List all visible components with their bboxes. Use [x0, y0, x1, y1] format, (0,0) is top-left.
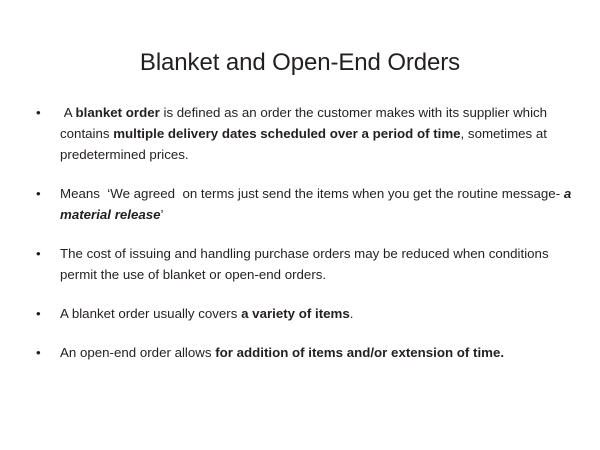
text-run: Means ‘We agreed on terms just send the …: [60, 186, 564, 201]
bullet-text: The cost of issuing and handling purchas…: [60, 243, 575, 285]
bold-run: blanket order: [76, 105, 160, 120]
bullet-text: An open-end order allows for addition of…: [60, 342, 575, 363]
text-run: A blanket order usually covers: [60, 306, 241, 321]
bold-run: multiple delivery dates scheduled over a…: [113, 126, 460, 141]
bullet-variety-of-items: •A blanket order usually covers a variet…: [30, 303, 575, 324]
text-run: ’: [161, 207, 164, 222]
bullet-open-end-order: •An open-end order allows for addition o…: [30, 342, 575, 363]
page-title: Blanket and Open-End Orders: [0, 48, 600, 78]
slide-canvas: Blanket and Open-End Orders • A blanket …: [0, 0, 600, 450]
bullet-blanket-order-definition: • A blanket order is defined as an order…: [30, 102, 575, 165]
bullet-point-icon: •: [36, 342, 41, 363]
bullet-point-icon: •: [36, 102, 41, 123]
bullet-point-icon: •: [36, 243, 41, 264]
bullet-text: A blanket order usually covers a variety…: [60, 303, 575, 324]
text-run: The cost of issuing and handling purchas…: [60, 246, 552, 282]
bullet-list: • A blanket order is defined as an order…: [30, 102, 575, 363]
bold-run: for addition of items and/or extension o…: [215, 345, 504, 360]
bullet-cost-reduction: •The cost of issuing and handling purcha…: [30, 243, 575, 285]
text-run: An open-end order allows: [60, 345, 215, 360]
bullet-text: Means ‘We agreed on terms just send the …: [60, 183, 575, 225]
bold-run: a variety of items: [241, 306, 350, 321]
bullet-material-release: •Means ‘We agreed on terms just send the…: [30, 183, 575, 225]
text-run: A: [60, 105, 76, 120]
bullet-point-icon: •: [36, 303, 41, 324]
bullet-point-icon: •: [36, 183, 41, 204]
text-run: .: [350, 306, 354, 321]
bullet-text: A blanket order is defined as an order t…: [60, 102, 575, 165]
